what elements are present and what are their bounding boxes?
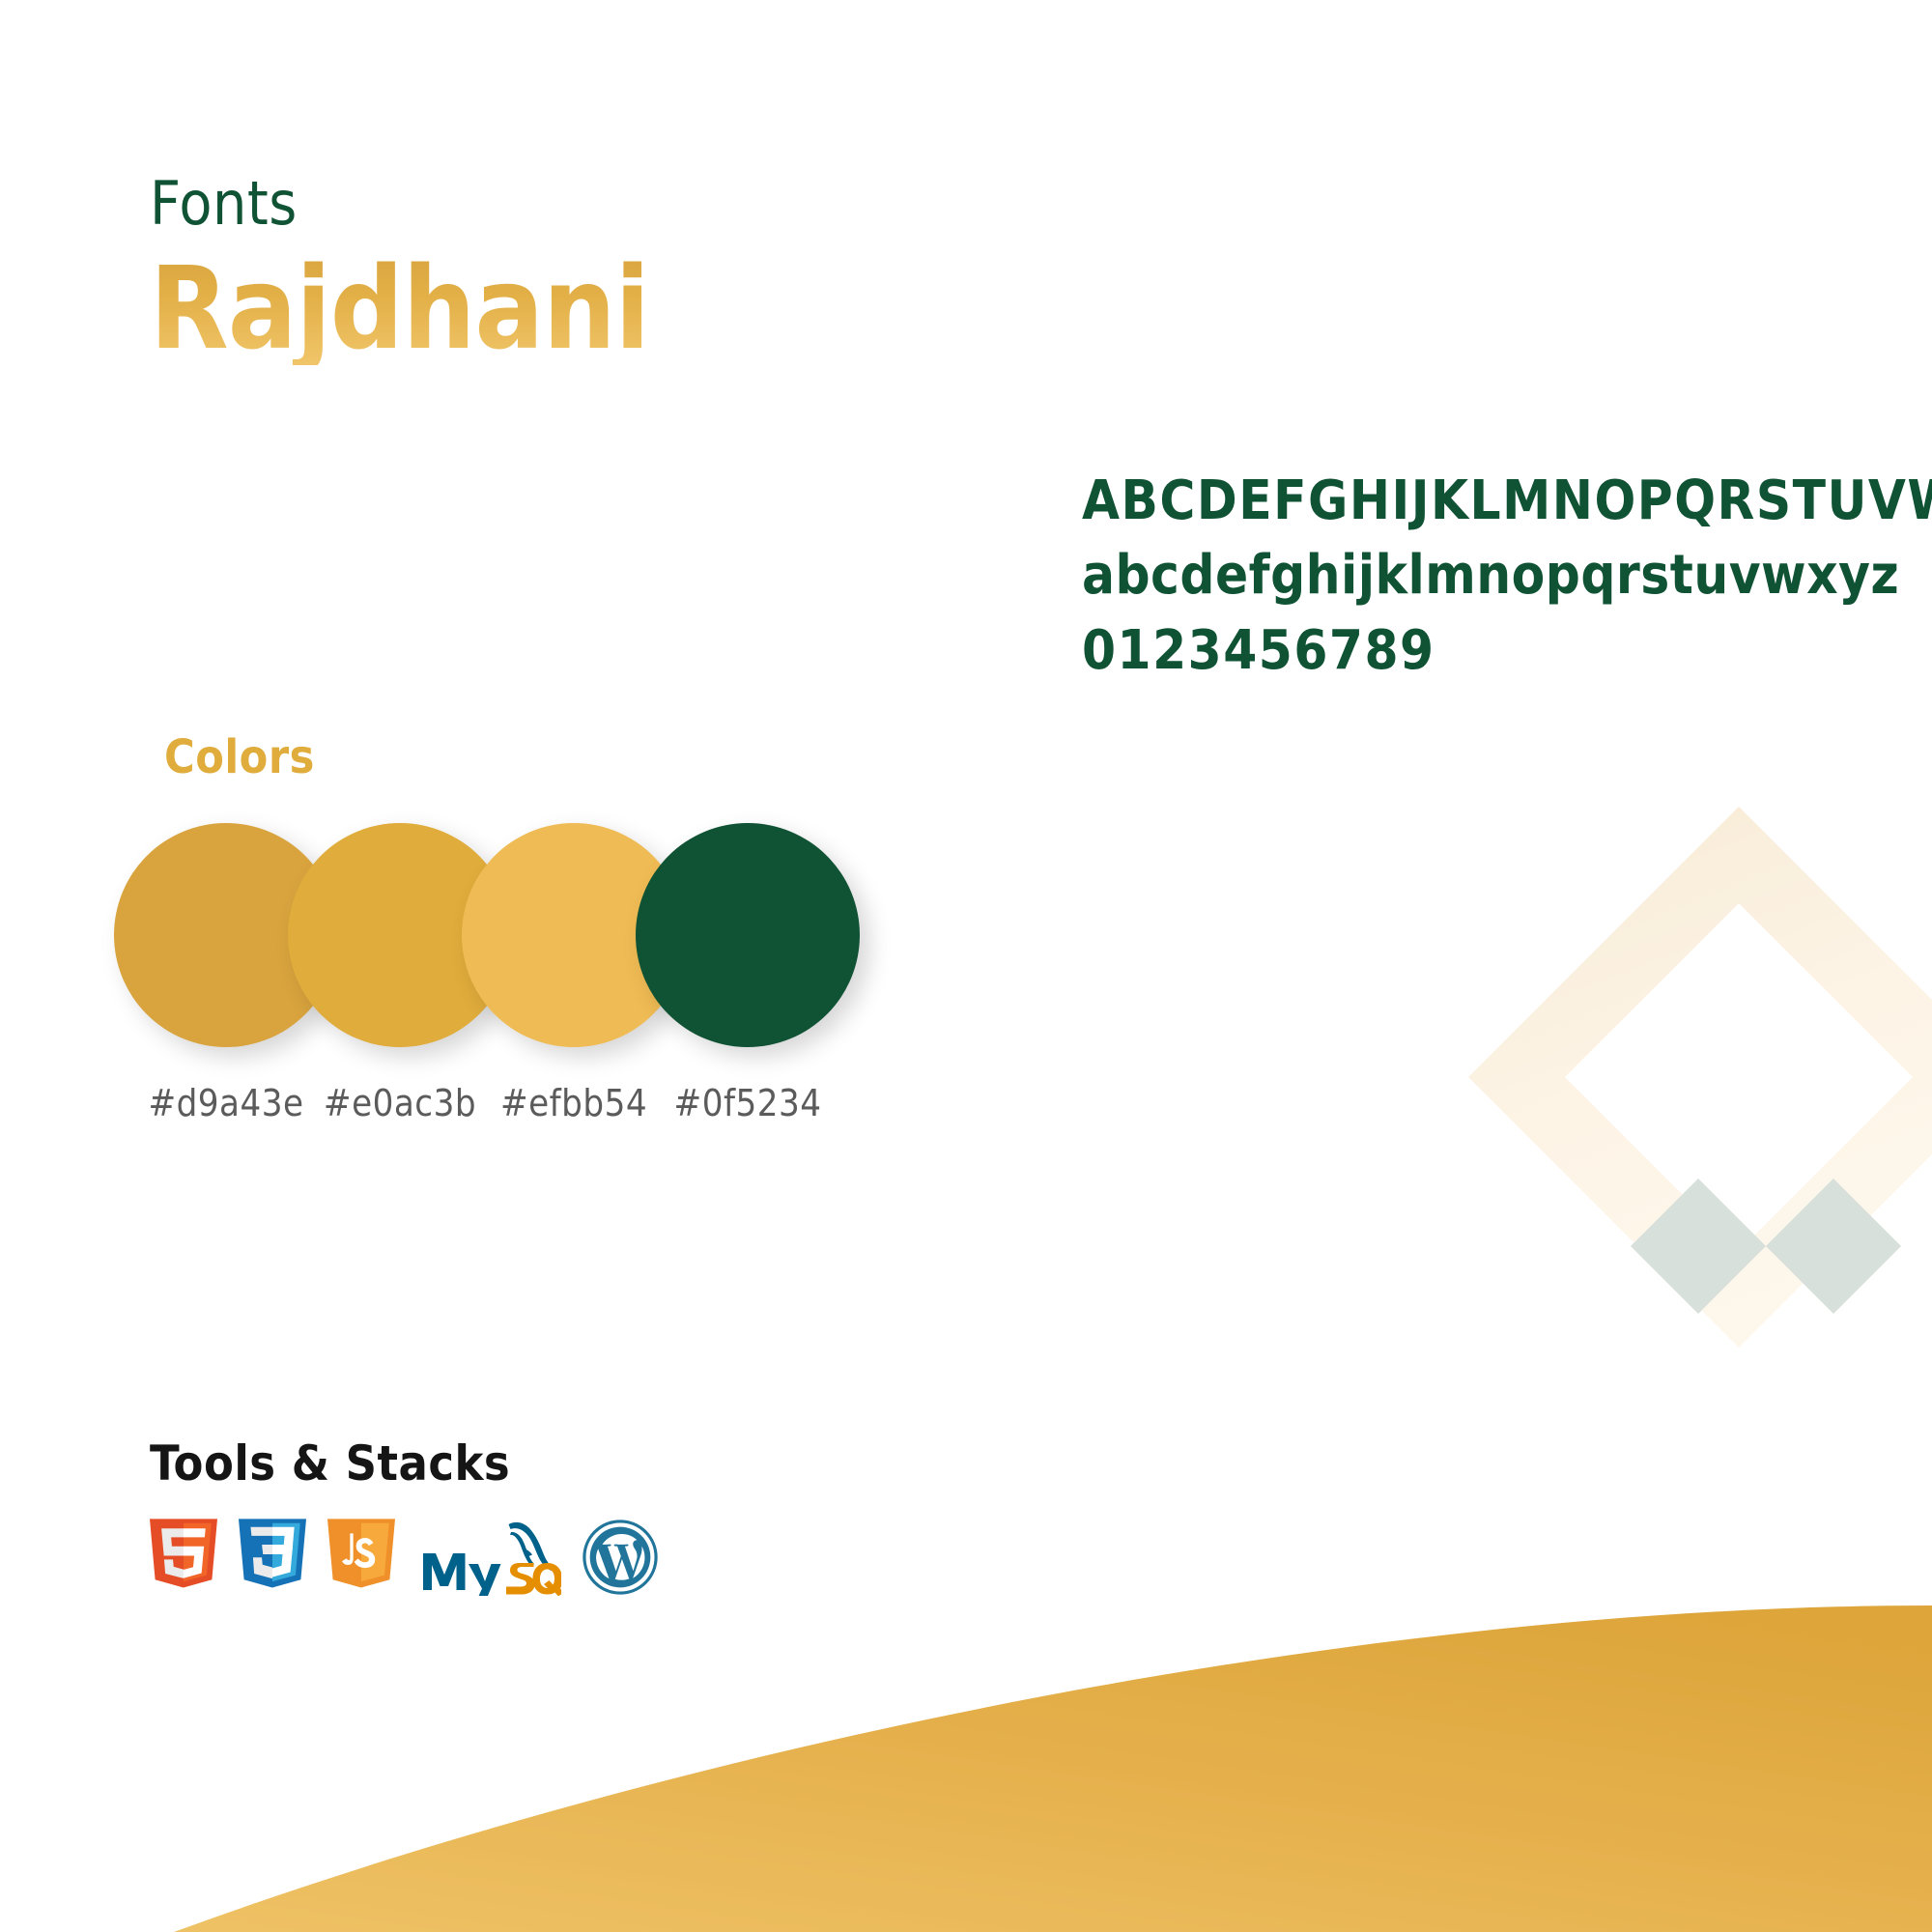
tools-icon-row bbox=[150, 1519, 658, 1596]
diamond-watermark-icon bbox=[1333, 773, 1932, 1391]
style-guide-page: Fonts Rajdhani ABCDEFGHIJKLMNOPQRSTUVWXY… bbox=[0, 0, 1932, 1932]
colors-section: Colors bbox=[164, 734, 315, 781]
javascript-icon[interactable] bbox=[327, 1519, 395, 1596]
color-swatch-3[interactable]: #0f5234 bbox=[636, 823, 860, 1047]
color-swatch-hex-3: #0f5234 bbox=[636, 1082, 860, 1124]
font-family-name: Rajdhani bbox=[150, 251, 649, 365]
specimen-digits: 0123456789 bbox=[1082, 613, 1932, 688]
specimen-lowercase: abcdefghijklmnopqrstuvwxyz bbox=[1082, 538, 1932, 612]
specimen-uppercase: ABCDEFGHIJKLMNOPQRSTUVWXYZ bbox=[1082, 464, 1932, 538]
colors-section-label: Colors bbox=[164, 734, 315, 781]
tools-section: Tools & Stacks bbox=[150, 1439, 658, 1596]
fonts-section-label: Fonts bbox=[150, 174, 649, 234]
wordpress-icon[interactable] bbox=[582, 1520, 658, 1595]
html5-icon[interactable] bbox=[150, 1519, 217, 1596]
font-specimen: ABCDEFGHIJKLMNOPQRSTUVWXYZ abcdefghijklm… bbox=[1082, 464, 1932, 688]
css3-icon[interactable] bbox=[239, 1519, 306, 1596]
color-swatch-row: #d9a43e #e0ac3b #efbb54 #0f5234 bbox=[114, 823, 964, 1151]
tools-section-label: Tools & Stacks bbox=[150, 1439, 658, 1488]
mysql-icon[interactable] bbox=[416, 1519, 561, 1596]
color-swatch-circle-3 bbox=[636, 823, 860, 1047]
bottom-gold-curve bbox=[0, 1546, 1932, 1932]
fonts-section: Fonts Rajdhani bbox=[150, 174, 649, 365]
